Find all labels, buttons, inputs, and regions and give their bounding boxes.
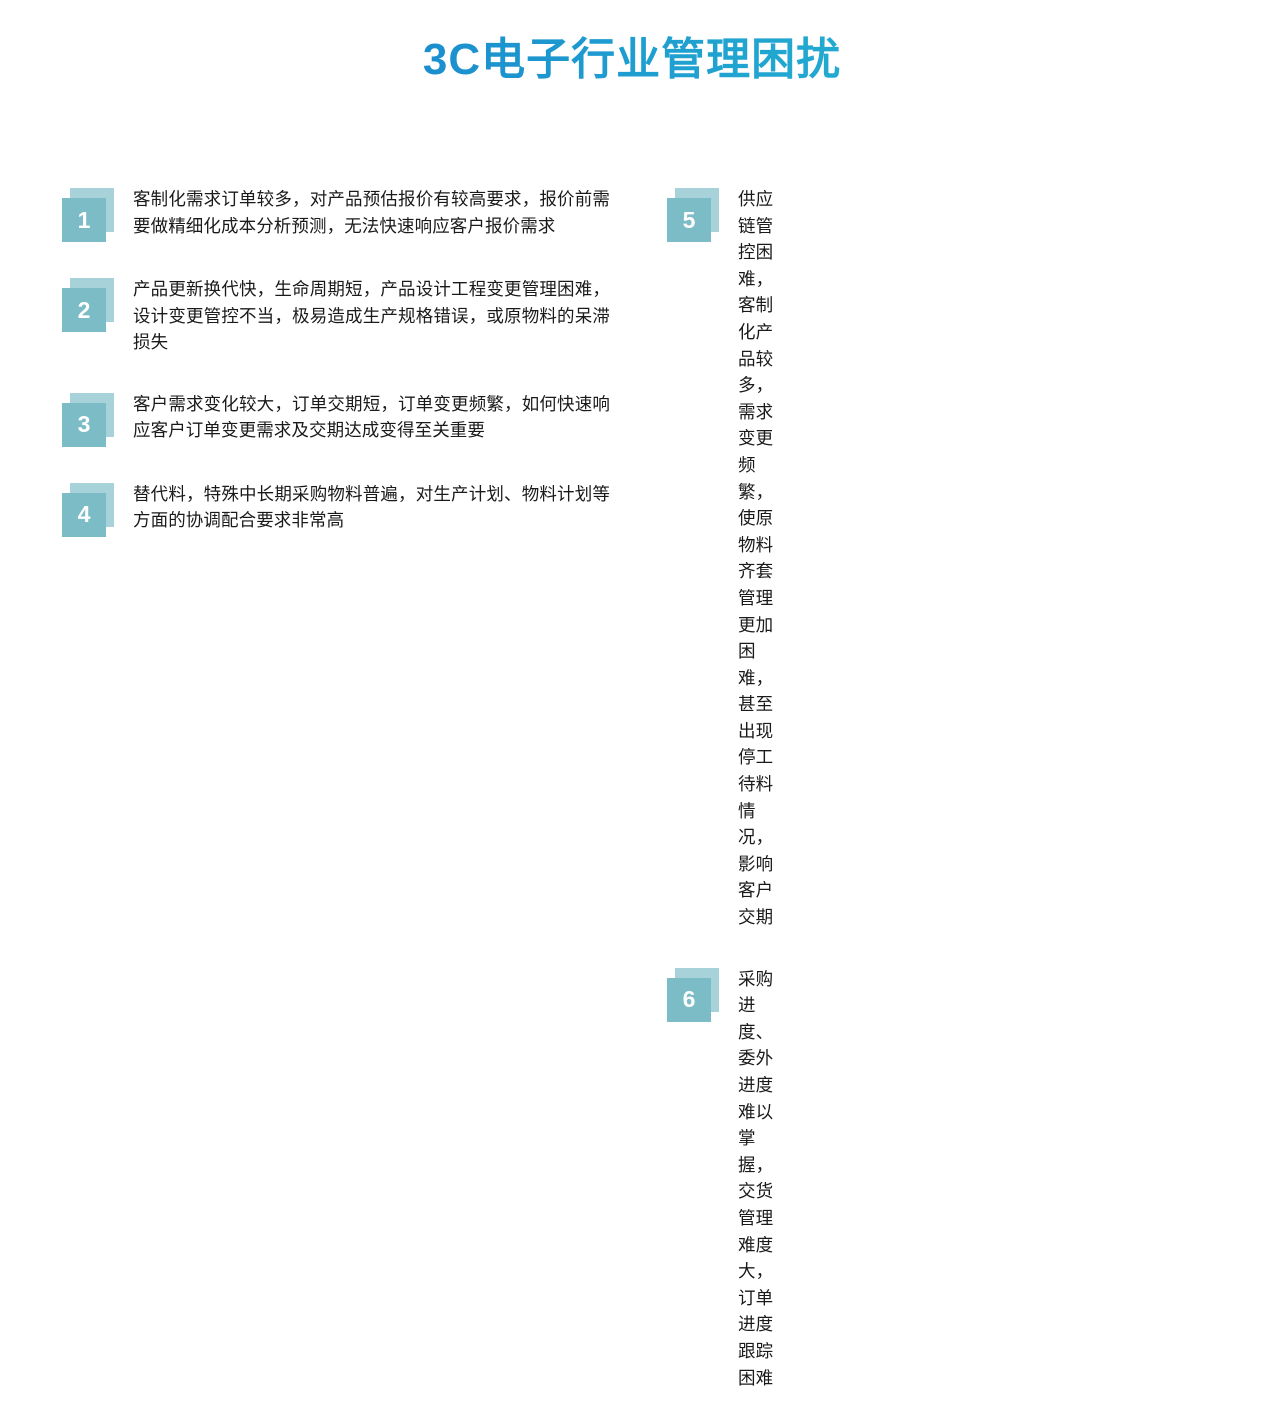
badge-front-square: 6	[667, 978, 711, 1022]
badge-front-square: 2	[62, 288, 106, 332]
item-number-badge: 5	[667, 188, 723, 242]
badge-number: 3	[78, 413, 91, 436]
item-text: 供应链管控困难，客制化产品较多，需求变更频繁，使原物料齐套管理更加困难，甚至出现…	[723, 186, 773, 932]
item-text: 采购进度、委外进度难以掌握，交货管理难度大，订单进度跟踪困难	[723, 966, 773, 1393]
item-number-badge: 6	[667, 968, 723, 1022]
badge-front-square: 3	[62, 403, 106, 447]
badge-number: 5	[683, 209, 696, 232]
badge-front-square: 1	[62, 198, 106, 242]
page-title: 3C电子行业管理困扰	[0, 32, 1264, 87]
badge-number: 2	[78, 299, 91, 322]
badge-number: 1	[78, 209, 91, 232]
content-columns: 1 客制化需求订单较多，对产品预估报价有较高要求，报价前需要做精细化成本分析预测…	[0, 186, 1264, 1420]
badge-number: 6	[683, 988, 696, 1011]
badge-front-square: 4	[62, 493, 106, 537]
item-number-badge: 2	[62, 278, 118, 332]
right-column: 5 供应链管控困难，客制化产品较多，需求变更频繁，使原物料齐套管理更加困难，甚至…	[0, 186, 697, 1420]
item-number-badge: 4	[62, 483, 118, 537]
item-number-badge: 3	[62, 393, 118, 447]
item-number-badge: 1	[62, 188, 118, 242]
badge-number: 4	[78, 503, 91, 526]
badge-front-square: 5	[667, 198, 711, 242]
